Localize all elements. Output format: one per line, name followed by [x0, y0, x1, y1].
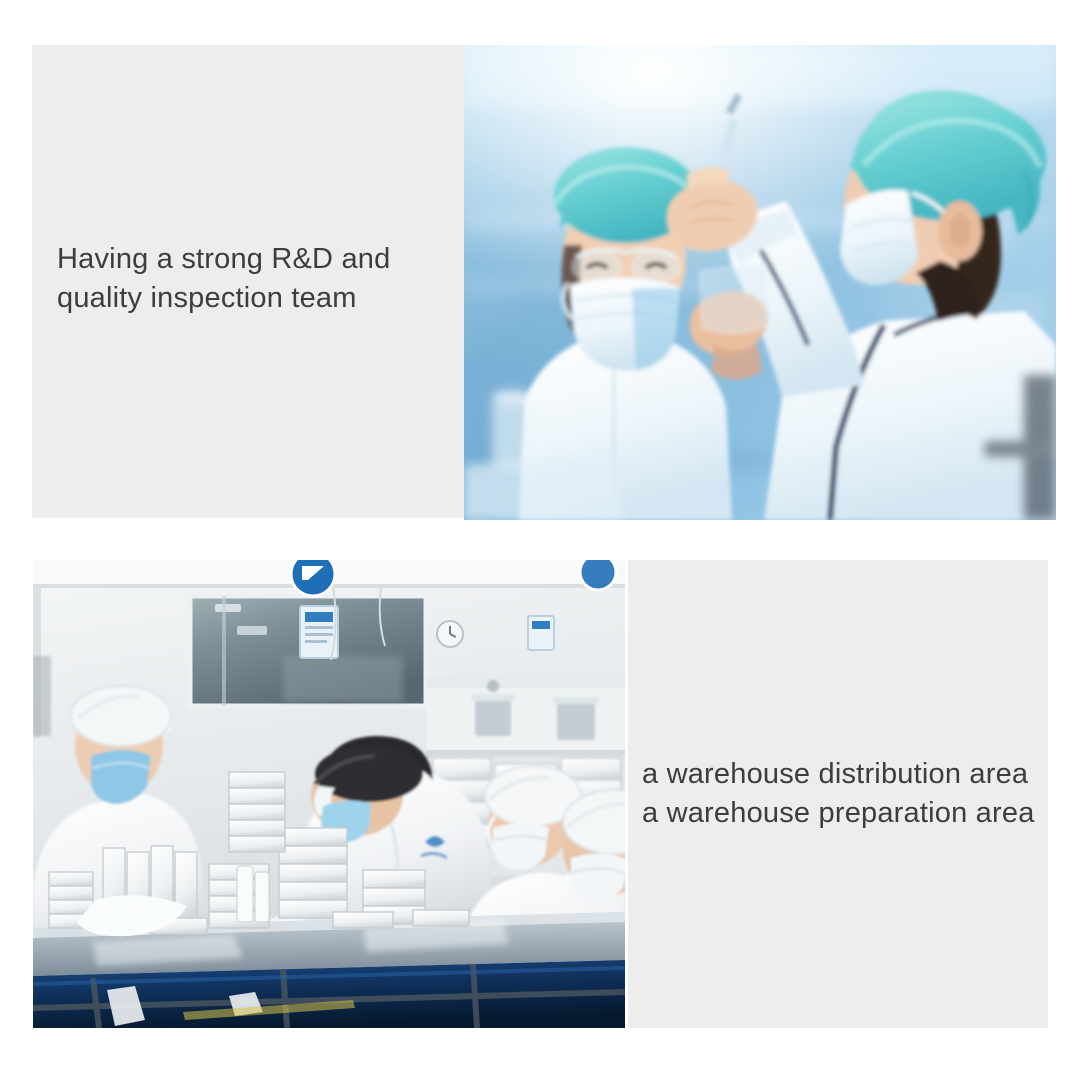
warehouse-packaging-photo: [33, 560, 625, 1028]
top-caption-text: Having a strong R&D and quality inspecti…: [32, 240, 390, 323]
page-root: Having a strong R&D and quality inspecti…: [0, 0, 1080, 1080]
top-caption-panel: Having a strong R&D and quality inspecti…: [32, 45, 464, 518]
lab-quality-inspection-photo: [464, 45, 1056, 520]
bottom-caption-panel: a warehouse distribution area a warehous…: [628, 560, 1048, 1028]
warehouse-photo-graphic: [33, 560, 625, 1028]
bottom-caption-text: a warehouse distribution area a warehous…: [628, 755, 1035, 832]
lab-photo-graphic: [464, 45, 1056, 520]
